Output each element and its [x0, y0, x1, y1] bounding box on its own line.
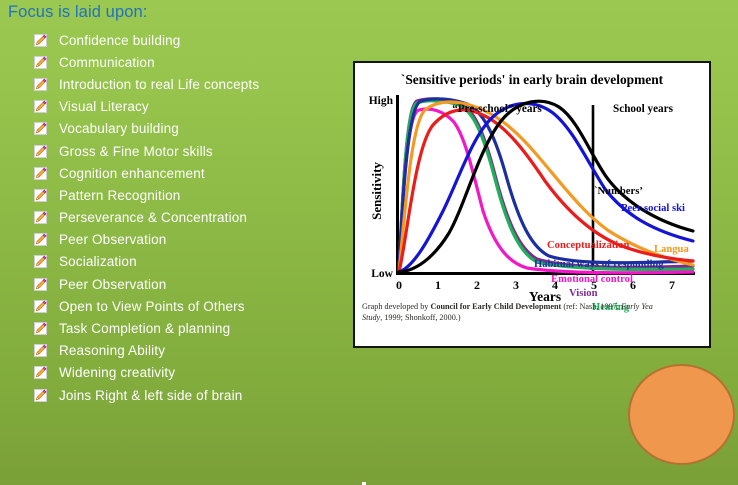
- series-hearing: [399, 101, 693, 272]
- annotation-peer-social-skills: Peer social ski: [621, 203, 685, 214]
- list-item: Visual Literacy: [34, 96, 334, 118]
- pencil-edit-icon: [34, 389, 47, 402]
- caption-italic-2: Study: [362, 313, 380, 322]
- list-item-label: Peer Observation: [59, 277, 166, 292]
- pencil-edit-icon: [34, 145, 47, 158]
- x-tick-3: 3: [513, 278, 519, 292]
- list-item: Task Completion & planning: [34, 317, 334, 339]
- list-item-label: Vocabulary building: [59, 121, 179, 136]
- list-item-label: Joins Right & left side of brain: [59, 388, 242, 403]
- pencil-edit-icon: [34, 78, 47, 91]
- annotation-conceptualization: Conceptualization: [547, 240, 630, 251]
- list-item-label: Reasoning Ability: [59, 343, 165, 358]
- list-item: Gross & Fine Motor skills: [34, 140, 334, 162]
- pencil-edit-icon: [34, 278, 47, 291]
- annotation-emotional-control: Emotional control: [551, 274, 633, 285]
- x-tick-0: 0: [396, 278, 402, 292]
- x-tick-7: 7: [669, 278, 675, 292]
- series-emotional-control: [399, 109, 693, 273]
- pencil-edit-icon: [34, 322, 47, 335]
- list-item-label: Peer Observation: [59, 232, 166, 247]
- presentation-slide: Focus is laid upon: Confidence buildingC…: [0, 0, 738, 485]
- y-axis-tick-high: High: [369, 95, 394, 107]
- list-item-label: Task Completion & planning: [59, 321, 230, 336]
- pencil-edit-icon: [34, 167, 47, 180]
- list-item: Confidence building: [34, 29, 334, 51]
- list-item-label: Confidence building: [59, 33, 180, 48]
- series-language: [399, 102, 693, 272]
- list-item: Perseverance & Concentration: [34, 207, 334, 229]
- caption-mid: (ref: Nash, 1997;: [561, 302, 621, 311]
- annotation-numbers: `Numbers’: [594, 186, 643, 197]
- pencil-edit-icon: [34, 233, 47, 246]
- list-item-label: Pattern Recognition: [59, 188, 180, 203]
- list-item: Widening creativity: [34, 362, 334, 384]
- series-peer-social-skills: [399, 104, 693, 273]
- caption-prefix: Graph developed by: [362, 302, 430, 311]
- series-conceptualization: [399, 110, 693, 272]
- series-numbers: [399, 101, 693, 272]
- annotation-language: Langua: [654, 244, 689, 255]
- pencil-edit-icon: [34, 189, 47, 202]
- pencil-edit-icon: [34, 211, 47, 224]
- list-item: Socialization: [34, 251, 334, 273]
- list-item-label: Communication: [59, 55, 155, 70]
- annotation-school-years: School years: [613, 103, 674, 115]
- list-item: Peer Observation: [34, 273, 334, 295]
- pencil-edit-icon: [34, 366, 47, 379]
- pencil-edit-icon: [34, 300, 47, 313]
- chart-series-group: [399, 99, 693, 273]
- list-item: Communication: [34, 51, 334, 73]
- pencil-edit-icon: [34, 255, 47, 268]
- caption-bold: Council for Early Child Development: [430, 302, 561, 311]
- annotation-habitual-ways: Habitual ways of responding: [534, 259, 664, 270]
- list-item-label: Introduction to real Life concepts: [59, 77, 259, 92]
- list-item-label: Open to View Points of Others: [59, 299, 245, 314]
- list-item: Cognition enhancement: [34, 162, 334, 184]
- pencil-edit-icon: [34, 56, 47, 69]
- orange-circle: [628, 364, 735, 465]
- x-tick-2: 2: [474, 278, 480, 292]
- list-item-label: Cognition enhancement: [59, 166, 205, 181]
- y-axis-label: Sensitivity: [369, 162, 384, 220]
- annotation-preschool-years: “Pre-school” years: [452, 103, 542, 115]
- pencil-edit-icon: [34, 100, 47, 113]
- list-item: Peer Observation: [34, 229, 334, 251]
- list-item: Reasoning Ability: [34, 340, 334, 362]
- x-tick-1: 1: [435, 278, 441, 292]
- series-vision: [399, 99, 693, 272]
- sensitive-periods-chart: `Sensitive periods' in early brain devel…: [353, 61, 711, 348]
- pencil-edit-icon: [34, 344, 47, 357]
- list-item-label: Gross & Fine Motor skills: [59, 144, 213, 159]
- list-item-label: Perseverance & Concentration: [59, 210, 247, 225]
- page-title: Focus is laid upon:: [8, 3, 147, 22]
- list-item: Vocabulary building: [34, 118, 334, 140]
- focus-list: Confidence buildingCommunicationIntroduc…: [34, 29, 334, 406]
- caption-italic-1: Early Yea: [621, 302, 653, 311]
- list-item-label: Visual Literacy: [59, 99, 149, 114]
- pencil-edit-icon: [34, 34, 47, 47]
- list-item: Open to View Points of Others: [34, 295, 334, 317]
- list-item: Pattern Recognition: [34, 184, 334, 206]
- chart-caption: Graph developed by Council for Early Chi…: [362, 301, 703, 323]
- annotation-vision: Vision: [569, 288, 598, 299]
- list-item: Joins Right & left side of brain: [34, 384, 334, 406]
- caption-line2-rest: , 1999; Shonkoff, 2000.): [380, 313, 460, 322]
- list-item-label: Socialization: [59, 254, 137, 269]
- series-habitual-ways: [399, 99, 693, 272]
- y-axis-tick-low: Low: [371, 268, 393, 280]
- list-item-label: Widening creativity: [59, 365, 175, 380]
- pencil-edit-icon: [34, 122, 47, 135]
- list-item: Introduction to real Life concepts: [34, 73, 334, 95]
